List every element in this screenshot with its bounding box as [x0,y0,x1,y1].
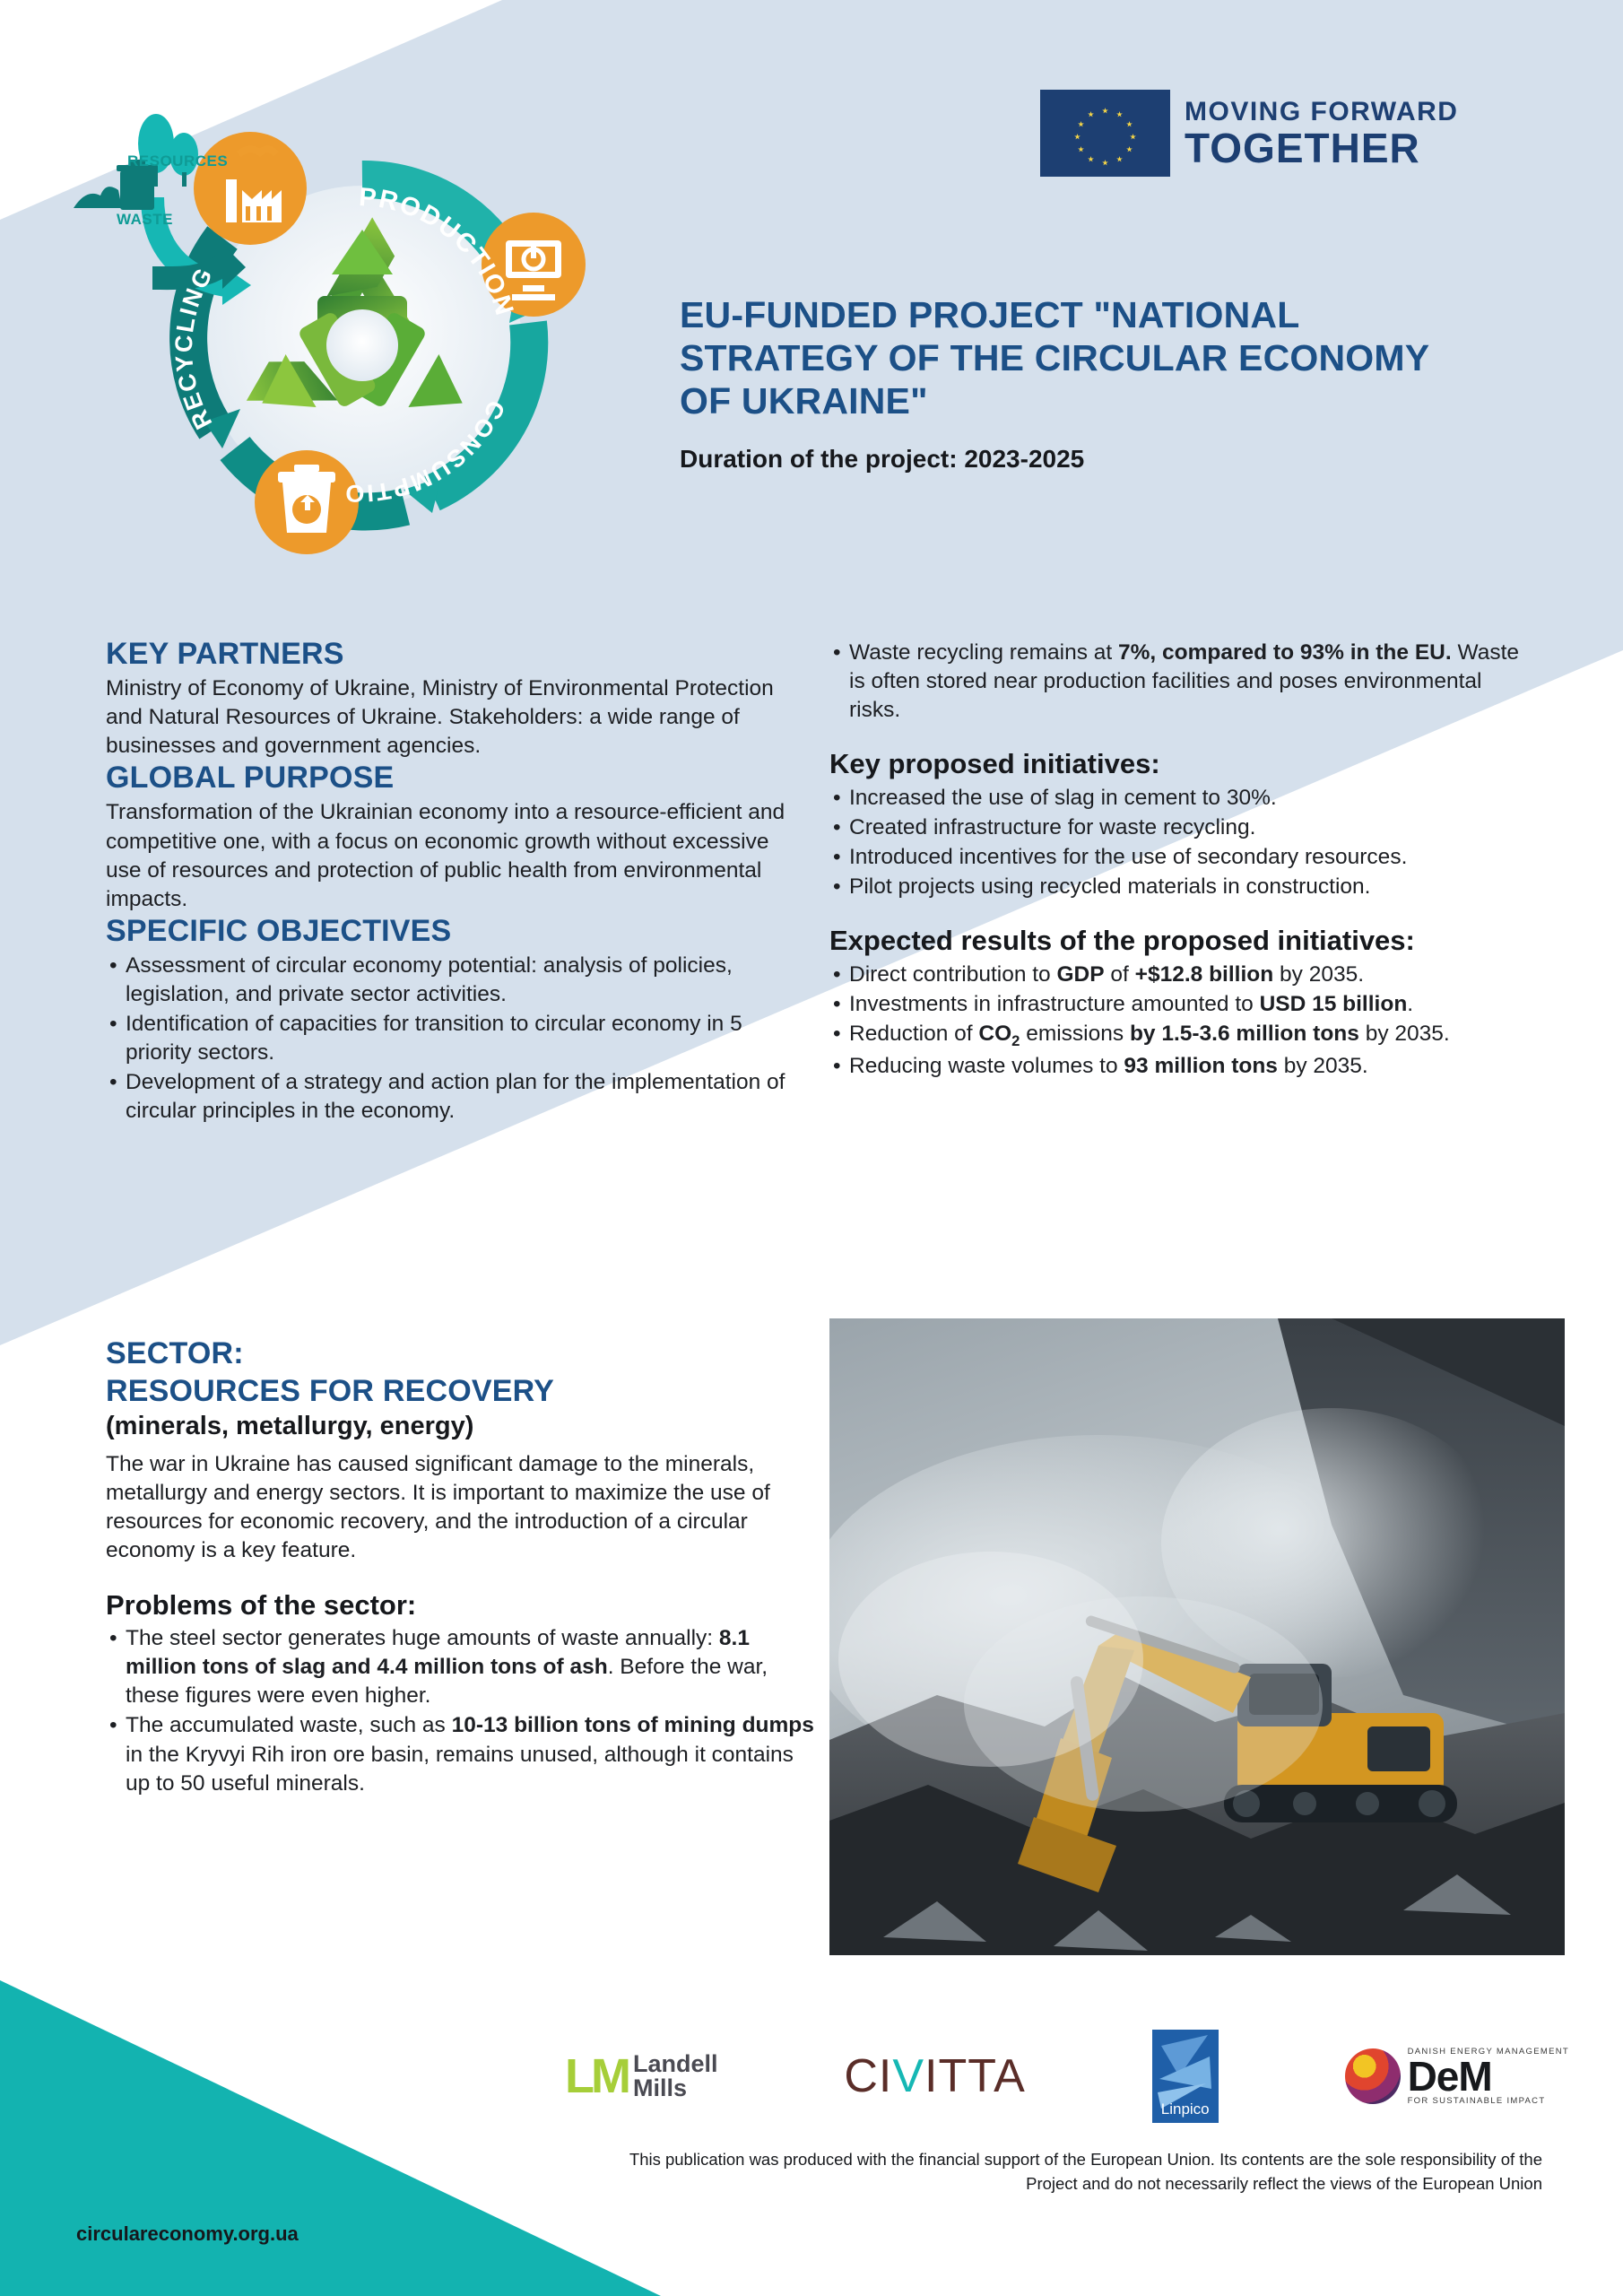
seg: Direct contribution to [849,962,1057,987]
list-item: Pilot projects using recycled materials … [829,873,1538,901]
list-item: Increased the use of slag in cement to 3… [829,784,1538,813]
waste-stat-pre: Waste recycling remains at [849,640,1118,665]
left-column: KEY PARTNERS Ministry of Economy of Ukra… [106,637,810,1126]
eu-flag-icon [1040,90,1170,177]
list-item: The accumulated waste, such as 10-13 bil… [106,1711,814,1797]
heading-problems: Problems of the sector: [106,1589,814,1622]
civitta-wordmark: CIVITTA [844,2049,1026,2103]
seg: The accumulated waste, such as [126,1713,452,1737]
seg-bold: 93 million tons [1124,1054,1278,1078]
seg: Reducing waste volumes to [849,1054,1124,1078]
dem-globe-icon [1345,2048,1401,2104]
sector-parenthetical: (minerals, metallurgy, energy) [106,1412,814,1441]
poster-page: PRODUCTION CONSUMPTION RECYCLING RESOURC… [0,0,1623,2296]
landell-mills-line1: Landell [633,2052,718,2076]
landell-mills-line2: Mills [633,2076,718,2100]
sector-block: SECTOR: RESOURCES FOR RECOVERY (minerals… [106,1336,814,1799]
circular-economy-diagram: PRODUCTION CONSUMPTION RECYCLING RESOURC… [47,54,638,601]
project-duration: Duration of the project: 2023-2025 [680,445,1487,474]
logo-linpico: Linpico [1152,2030,1219,2123]
seg-bold: GDP [1057,962,1105,987]
seg-bold: USD 15 billion [1260,992,1408,1016]
eu-banner-line1: MOVING FORWARD [1185,99,1458,126]
text-sector-body: The war in Ukraine has caused significan… [106,1450,814,1565]
website-url[interactable]: circulareconomy.org.ua [76,2222,299,2246]
seg-bold: 10-13 billion tons of mining dumps [452,1713,814,1737]
text-global-purpose: Transformation of the Ukrainian economy … [106,798,810,913]
list-item: Identification of capacities for transit… [106,1010,810,1067]
seg: . [1407,992,1413,1016]
list-key-initiatives: Increased the use of slag in cement to 3… [829,784,1538,901]
list-specific-objectives: Assessment of circular economy potential… [106,952,810,1126]
seg: of [1105,962,1135,987]
seg: by 2035. [1359,1022,1450,1046]
heading-key-initiatives: Key proposed initiatives: [829,748,1538,780]
list-item: Created infrastructure for waste recycli… [829,813,1538,842]
list-expected-results: Direct contribution to GDP of +$12.8 bil… [829,961,1538,1081]
list-item: Assessment of circular economy potential… [106,952,810,1009]
eu-banner: MOVING FORWARD TOGETHER [1040,90,1458,177]
page-title: EU-FUNDED PROJECT "NATIONAL STRATEGY OF … [680,294,1487,423]
list-item: Reduction of CO2 emissions by 1.5-3.6 mi… [829,1020,1538,1051]
dem-tagline-bottom: FOR SUSTAINABLE IMPACT [1408,2097,1569,2106]
dem-wordmark: DeM [1408,2056,1569,2097]
seg: Investments in infrastructure amounted t… [849,992,1260,1016]
linpico-wordmark: Linpico [1152,2100,1219,2118]
list-waste-stat: Waste recycling remains at 7%, compared … [829,639,1538,725]
list-item: Development of a strategy and action pla… [106,1068,810,1126]
list-item: Introduced incentives for the use of sec… [829,843,1538,872]
heading-global-purpose: GLOBAL PURPOSE [106,761,810,795]
list-item: Reducing waste volumes to 93 million ton… [829,1052,1538,1081]
cycle-label-resources: RESOURCES [127,152,228,170]
cycle-label-waste: WASTE [117,211,173,229]
landell-mills-mark: LM [565,2052,628,2100]
seg: by 2035. [1273,962,1364,987]
seg: in the Kryvyi Rih iron ore basin, remain… [126,1743,794,1796]
heading-key-partners: KEY PARTNERS [106,637,810,671]
heading-sector-line2: RESOURCES FOR RECOVERY [106,1374,814,1408]
recycling-node-icon [255,450,359,554]
seg-bold: +$12.8 billion [1135,962,1274,987]
eu-banner-line2: TOGETHER [1185,127,1458,169]
seg: The steel sector generates huge amounts … [126,1626,719,1650]
heading-expected-results: Expected results of the proposed initiat… [829,925,1538,957]
seg-bold-co2: CO2 [978,1022,1020,1046]
seg: Reduction of [849,1022,978,1046]
seg: by 2035. [1278,1054,1368,1078]
list-item: Waste recycling remains at 7%, compared … [829,639,1538,725]
list-item: Direct contribution to GDP of +$12.8 bil… [829,961,1538,989]
waste-stat-bold: 7%, compared to 93% in the EU. [1118,640,1452,665]
eu-disclaimer: This publication was produced with the f… [628,2148,1542,2196]
heading-specific-objectives: SPECIFIC OBJECTIVES [106,914,810,948]
quarry-excavator-photo [829,1318,1565,1955]
logo-dem: DANISH ENERGY MANAGEMENT DeM FOR SUSTAIN… [1345,2048,1569,2106]
list-problems: The steel sector generates huge amounts … [106,1624,814,1798]
logo-civitta: CIVITTA [844,2049,1026,2103]
header-block: EU-FUNDED PROJECT "NATIONAL STRATEGY OF … [680,294,1487,474]
partner-logos: LM Landell Mills CIVITTA Linpico DANISH … [565,2018,1569,2135]
text-key-partners: Ministry of Economy of Ukraine, Ministry… [106,674,810,761]
production-node-icon [194,132,307,245]
seg: emissions [1020,1022,1130,1046]
seg-bold: by 1.5-3.6 million tons [1130,1022,1359,1046]
logo-landell-mills: LM Landell Mills [565,2052,717,2100]
list-item: The steel sector generates huge amounts … [106,1624,814,1710]
list-item: Investments in infrastructure amounted t… [829,990,1538,1019]
right-column: Waste recycling remains at 7%, compared … [829,637,1538,1082]
heading-sector-line1: SECTOR: [106,1336,814,1370]
